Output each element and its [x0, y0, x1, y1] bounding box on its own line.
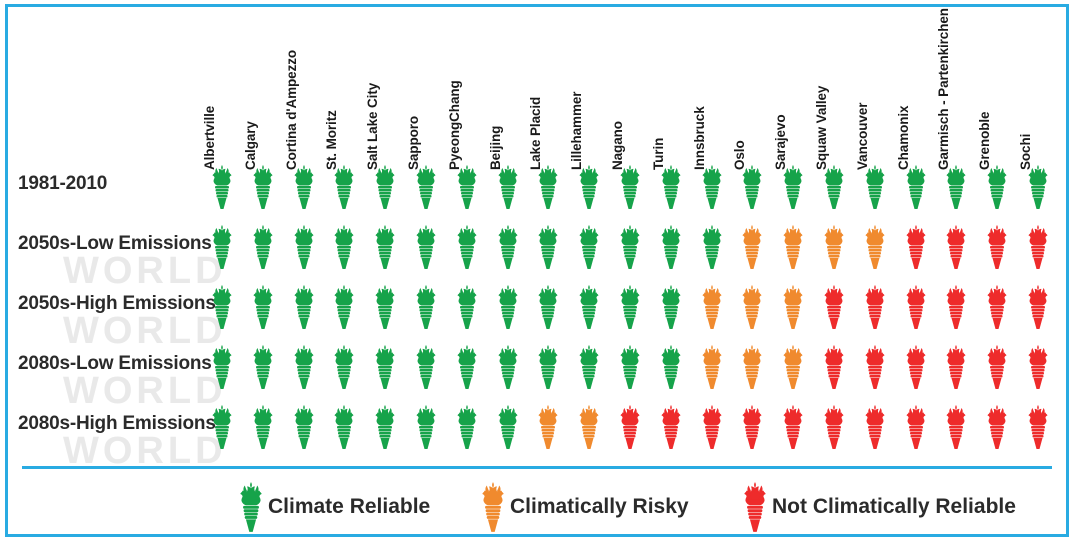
torch-cell	[780, 164, 806, 210]
torch-cell	[291, 164, 317, 210]
torch-cell	[1025, 224, 1051, 270]
torch-cell	[821, 224, 847, 270]
torch-cell	[943, 344, 969, 390]
torch-cell	[1025, 284, 1051, 330]
torch-icon-green	[236, 481, 266, 533]
torch-cell	[658, 344, 684, 390]
torch-cell	[372, 344, 398, 390]
column-header-14: Sarajevo	[773, 115, 788, 171]
torch-cell	[331, 164, 357, 210]
torch-cell	[372, 224, 398, 270]
torch-cell	[617, 404, 643, 450]
torch-cell	[250, 224, 276, 270]
column-header-4: Salt Lake City	[365, 83, 380, 170]
infographic-frame: WORLDWORLDWORLDWORLD 1981-20102050s-Low …	[5, 4, 1069, 537]
legend-item-red: Not Climatically Reliable	[740, 479, 1016, 535]
torch-cell	[576, 344, 602, 390]
torch-cell	[535, 284, 561, 330]
torch-cell	[454, 164, 480, 210]
column-header-9: Lillehammer	[569, 92, 584, 170]
column-header-17: Chamonix	[896, 106, 911, 170]
torch-cell	[454, 284, 480, 330]
torch-cell	[903, 224, 929, 270]
torch-cell	[862, 224, 888, 270]
torch-cell	[1025, 404, 1051, 450]
torch-cell	[943, 224, 969, 270]
torch-cell	[903, 284, 929, 330]
torch-cell	[495, 224, 521, 270]
torch-cell	[495, 404, 521, 450]
torch-cell	[780, 284, 806, 330]
torch-cell	[984, 404, 1010, 450]
torch-icon-orange	[478, 481, 508, 533]
torch-cell	[1025, 164, 1051, 210]
legend: Climate ReliableClimatically RiskyNot Cl…	[8, 477, 1072, 537]
row-label-1: 2050s-Low Emissions	[18, 233, 212, 255]
torch-cell	[699, 404, 725, 450]
column-header-6: PyeongChang	[447, 80, 462, 170]
torch-cell	[658, 284, 684, 330]
torch-cell	[250, 164, 276, 210]
torch-cell	[413, 344, 439, 390]
torch-icon-red	[740, 481, 770, 533]
torch-cell	[862, 404, 888, 450]
torch-cell	[291, 224, 317, 270]
torch-cell	[250, 284, 276, 330]
torch-cell	[984, 284, 1010, 330]
torch-cell	[413, 284, 439, 330]
torch-cell	[495, 164, 521, 210]
torch-cell	[862, 164, 888, 210]
torch-cell	[699, 344, 725, 390]
torch-cell	[291, 284, 317, 330]
column-header-1: Calgary	[243, 121, 258, 170]
torch-cell	[739, 404, 765, 450]
torch-cell	[576, 164, 602, 210]
torch-cell	[780, 344, 806, 390]
torch-cell	[984, 224, 1010, 270]
torch-cell	[821, 284, 847, 330]
torch-cell	[984, 344, 1010, 390]
torch-cell	[617, 344, 643, 390]
torch-cell	[209, 284, 235, 330]
torch-cell	[250, 404, 276, 450]
torch-cell	[331, 344, 357, 390]
torch-cell	[413, 224, 439, 270]
torch-cell	[862, 344, 888, 390]
legend-label-orange: Climatically Risky	[510, 495, 689, 519]
torch-cell	[535, 344, 561, 390]
torch-cell	[331, 284, 357, 330]
torch-cell	[413, 404, 439, 450]
torch-cell	[372, 284, 398, 330]
torch-cell	[576, 224, 602, 270]
column-header-0: Albertville	[202, 106, 217, 170]
torch-cell	[576, 284, 602, 330]
torch-cell	[454, 224, 480, 270]
row-label-4: 2080s-High Emissions	[18, 413, 216, 435]
torch-cell	[943, 164, 969, 210]
torch-cell	[413, 164, 439, 210]
torch-cell	[984, 164, 1010, 210]
torch-cell	[291, 344, 317, 390]
torch-cell	[739, 164, 765, 210]
torch-cell	[454, 344, 480, 390]
torch-cell	[372, 164, 398, 210]
torch-cell	[1025, 344, 1051, 390]
torch-cell	[617, 224, 643, 270]
torch-cell	[658, 404, 684, 450]
torch-cell	[617, 164, 643, 210]
column-header-8: Lake Placid	[528, 97, 543, 170]
torch-cell	[658, 164, 684, 210]
section-divider	[22, 466, 1052, 469]
torch-cell	[495, 284, 521, 330]
torch-cell	[495, 344, 521, 390]
column-header-10: Nagano	[610, 121, 625, 170]
torch-cell	[209, 164, 235, 210]
torch-cell	[821, 404, 847, 450]
torch-cell	[903, 344, 929, 390]
torch-cell	[943, 404, 969, 450]
torch-cell	[535, 224, 561, 270]
legend-item-orange: Climatically Risky	[478, 479, 689, 535]
torch-cell	[699, 224, 725, 270]
torch-cell	[821, 344, 847, 390]
legend-label-red: Not Climatically Reliable	[772, 495, 1016, 519]
column-header-15: Squaw Valley	[814, 86, 829, 170]
row-label-0: 1981-2010	[18, 173, 107, 195]
torch-cell	[903, 164, 929, 210]
torch-cell	[699, 284, 725, 330]
torch-cell	[209, 404, 235, 450]
column-header-12: Innsbruck	[692, 106, 707, 170]
row-label-2: 2050s-High Emissions	[18, 293, 216, 315]
torch-cell	[739, 224, 765, 270]
torch-cell	[576, 404, 602, 450]
torch-cell	[780, 404, 806, 450]
column-header-16: Vancouver	[855, 103, 870, 170]
torch-cell	[209, 224, 235, 270]
torch-cell	[658, 224, 684, 270]
torch-cell	[454, 404, 480, 450]
torch-cell	[739, 344, 765, 390]
torch-cell	[535, 164, 561, 210]
torch-cell	[780, 224, 806, 270]
torch-cell	[739, 284, 765, 330]
column-header-19: Grenoble	[977, 112, 992, 170]
legend-label-green: Climate Reliable	[268, 495, 430, 519]
torch-cell	[291, 404, 317, 450]
torch-cell	[331, 404, 357, 450]
torch-cell	[903, 404, 929, 450]
torch-cell	[699, 164, 725, 210]
legend-item-green: Climate Reliable	[236, 479, 430, 535]
torch-cell	[943, 284, 969, 330]
row-label-3: 2080s-Low Emissions	[18, 353, 212, 375]
column-header-3: St. Moritz	[324, 110, 339, 170]
torch-cell	[209, 344, 235, 390]
torch-cell	[862, 284, 888, 330]
column-header-2: Cortina d'Ampezzo	[284, 50, 299, 170]
column-header-5: Sapporo	[406, 116, 421, 170]
torch-cell	[250, 344, 276, 390]
torch-matrix: 1981-20102050s-Low Emissions2050s-High E…	[8, 7, 1072, 467]
torch-cell	[617, 284, 643, 330]
torch-cell	[535, 404, 561, 450]
torch-cell	[331, 224, 357, 270]
torch-cell	[821, 164, 847, 210]
column-header-18: Garmisch - Partenkirchen	[936, 8, 951, 170]
torch-cell	[372, 404, 398, 450]
